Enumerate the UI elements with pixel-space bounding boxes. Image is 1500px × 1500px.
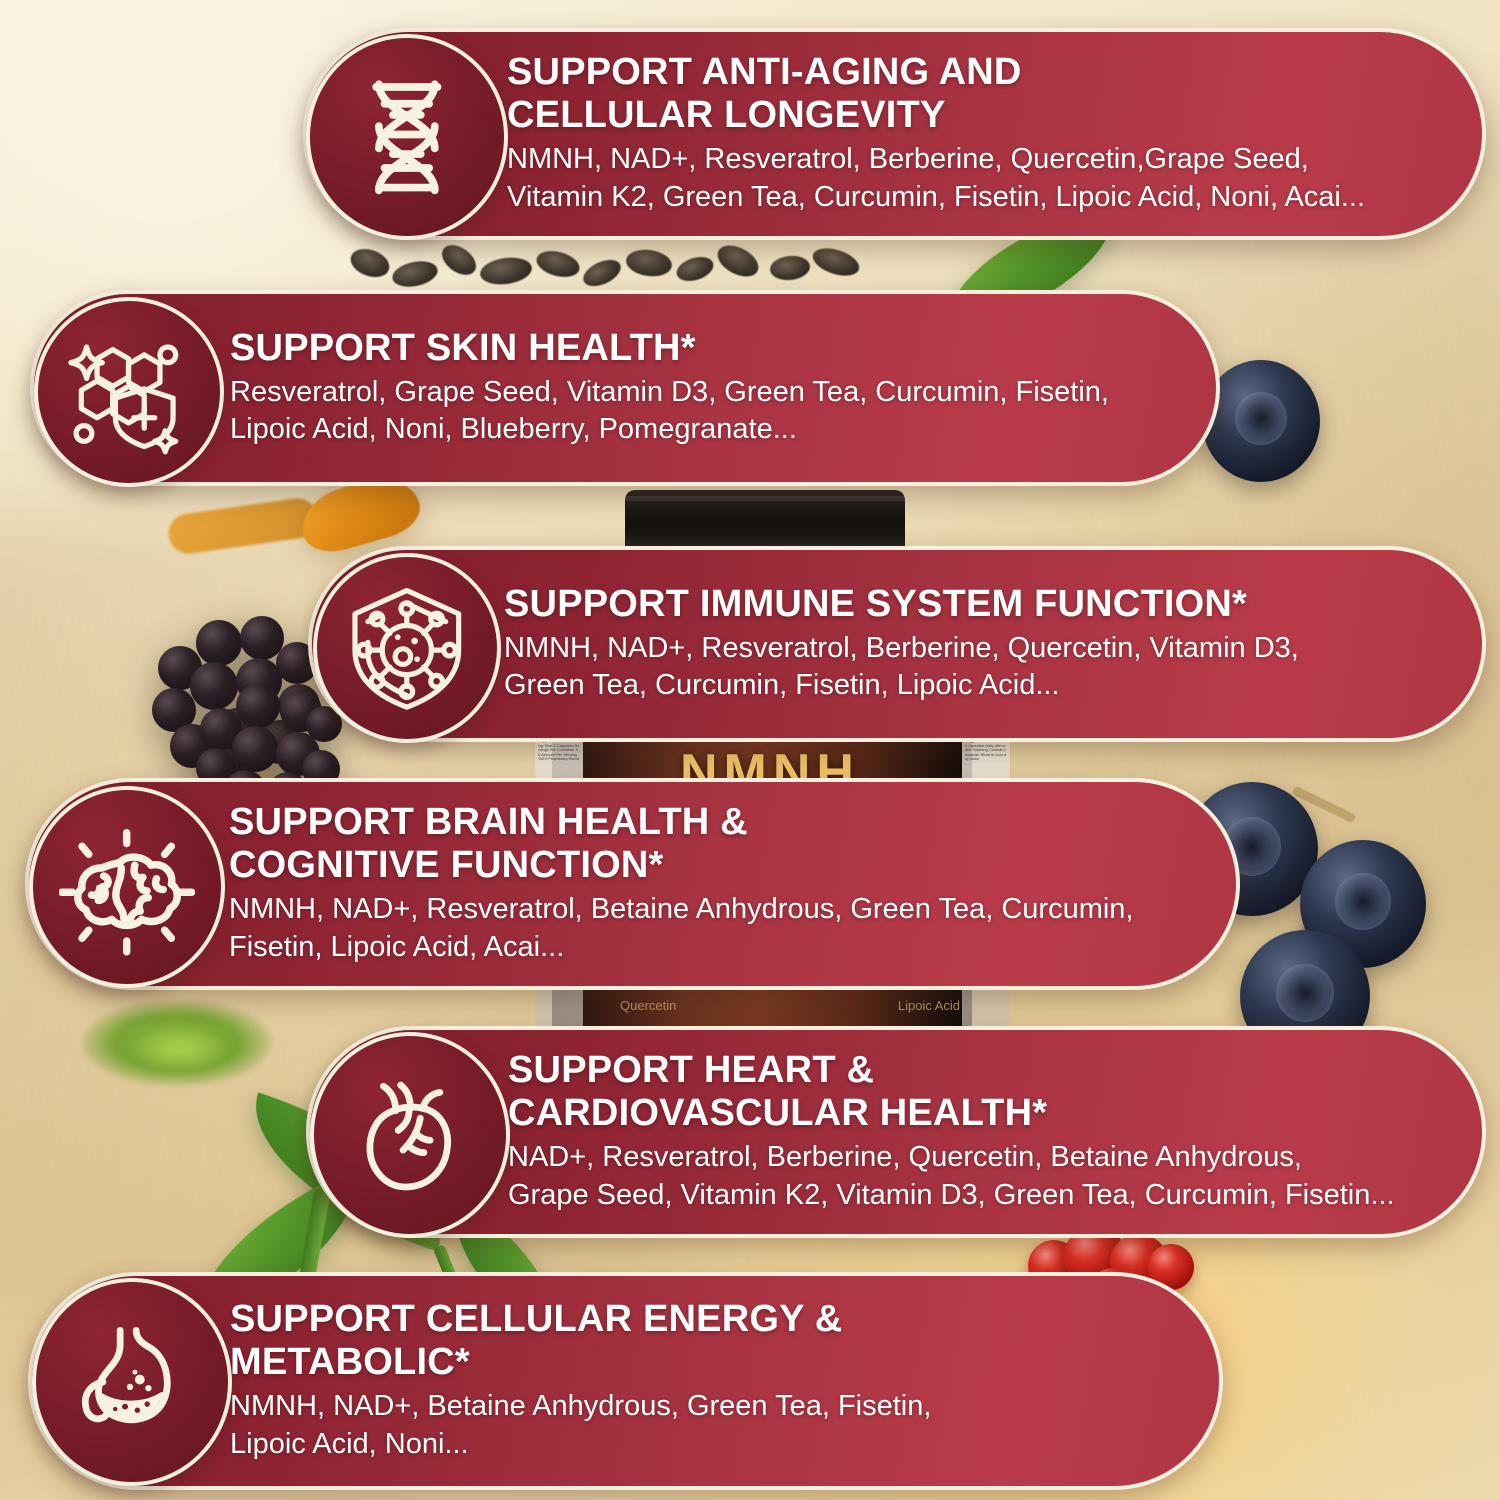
benefit-row-heart-health[interactable]: SUPPORT HEART & CARDIOVASCULAR HEALTH* N…	[306, 1026, 1486, 1238]
benefit-title: SUPPORT ANTI-AGING AND CELLULAR LONGEVIT…	[507, 51, 1365, 137]
benefit-text-cellular-energy: SUPPORT CELLULAR ENERGY & METABOLIC* NMN…	[230, 1298, 971, 1463]
honeycomb-shield-icon	[34, 297, 224, 487]
heart-anatomical-icon	[310, 1032, 510, 1238]
benefit-ingredients: NMNH, NAD+, Resveratrol, Berberine, Quer…	[507, 141, 1365, 216]
benefit-text-immune-system: SUPPORT IMMUNE SYSTEM FUNCTION* NMNH, NA…	[504, 583, 1339, 705]
benefit-row-anti-aging[interactable]: SUPPORT ANTI-AGING AND CELLULAR LONGEVIT…	[303, 28, 1486, 240]
benefit-text-brain-health: SUPPORT BRAIN HEALTH & COGNITIVE FUNCTIO…	[229, 801, 1173, 966]
benefit-title: SUPPORT IMMUNE SYSTEM FUNCTION*	[504, 583, 1299, 626]
benefit-title: SUPPORT SKIN HEALTH*	[230, 327, 1109, 370]
benefit-ingredients: NMNH, NAD+, Resveratrol, Berberine, Quer…	[504, 630, 1299, 705]
benefit-title: SUPPORT BRAIN HEALTH & COGNITIVE FUNCTIO…	[229, 801, 1133, 887]
stomach-icon	[32, 1278, 232, 1486]
brain-icon	[29, 786, 225, 988]
benefit-rows: SUPPORT ANTI-AGING AND CELLULAR LONGEVIT…	[0, 0, 1500, 1500]
benefit-row-immune-system[interactable]: SUPPORT IMMUNE SYSTEM FUNCTION* NMNH, NA…	[308, 546, 1486, 742]
benefit-row-brain-health[interactable]: SUPPORT BRAIN HEALTH & COGNITIVE FUNCTIO…	[25, 778, 1240, 990]
benefit-ingredients: Resveratrol, Grape Seed, Vitamin D3, Gre…	[230, 374, 1109, 449]
benefit-text-anti-aging: SUPPORT ANTI-AGING AND CELLULAR LONGEVIT…	[507, 51, 1411, 216]
shield-virus-icon	[313, 553, 501, 743]
benefit-ingredients: NMNH, NAD+, Betaine Anhydrous, Green Tea…	[230, 1388, 931, 1463]
benefit-ingredients: NAD+, Resveratrol, Berberine, Quercetin,…	[508, 1139, 1395, 1214]
benefit-text-heart-health: SUPPORT HEART & CARDIOVASCULAR HEALTH* N…	[508, 1049, 1435, 1214]
benefit-title: SUPPORT CELLULAR ENERGY & METABOLIC*	[230, 1298, 931, 1384]
benefit-row-cellular-energy[interactable]: SUPPORT CELLULAR ENERGY & METABOLIC* NMN…	[28, 1272, 1223, 1490]
dna-icon	[306, 34, 508, 240]
benefit-title: SUPPORT HEART & CARDIOVASCULAR HEALTH*	[508, 1049, 1395, 1135]
benefit-ingredients: NMNH, NAD+, Resveratrol, Betaine Anhydro…	[229, 891, 1133, 966]
benefits-infographic: Supplement Facts Serving Size 2 Capsules…	[0, 0, 1500, 1500]
benefit-text-skin-health: SUPPORT SKIN HEALTH* Resveratrol, Grape …	[230, 327, 1155, 449]
benefit-row-skin-health[interactable]: SUPPORT SKIN HEALTH* Resveratrol, Grape …	[30, 290, 1220, 486]
